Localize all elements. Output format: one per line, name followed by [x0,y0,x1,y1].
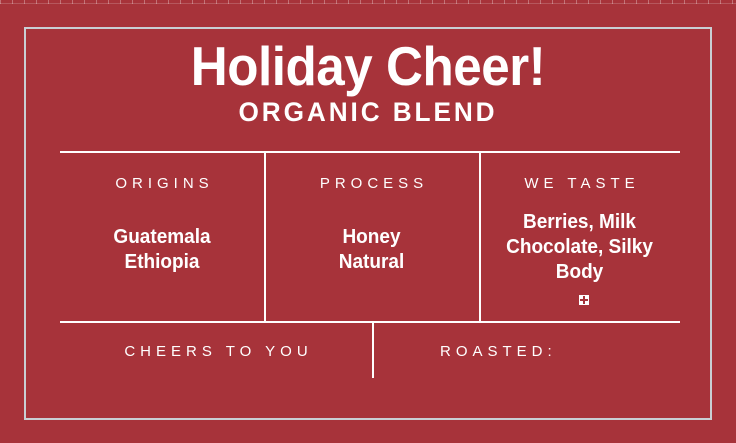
column-process-body: Honey Natural [269,225,473,275]
page-title: Holiday Cheer! [50,37,686,95]
column-we-taste: WE TASTE Berries, Milk Chocolate, Silky … [479,153,680,321]
info-columns: ORIGINS Guatemala Ethiopia PROCESS Honey… [60,153,680,321]
column-we-taste-heading: WE TASTE [479,175,680,192]
column-process-heading: PROCESS [264,175,479,192]
column-origins-body: Guatemala Ethiopia [65,225,259,275]
top-ruler [0,0,736,4]
coffee-label-card: Holiday Cheer! ORGANIC BLEND ORIGINS Gua… [24,27,712,420]
footer-cheers-text: CHEERS TO YOU [60,343,372,360]
label-footer: CHEERS TO YOU ROASTED: [60,323,680,383]
column-origins: ORIGINS Guatemala Ethiopia [60,153,264,321]
title-block: Holiday Cheer! ORGANIC BLEND [26,37,710,129]
column-we-taste-body: Berries, Milk Chocolate, Silky Body [484,210,675,285]
footer-roasted-label: ROASTED: [408,343,680,360]
top-ruler-line [0,3,736,4]
column-origins-heading: ORIGINS [60,175,264,192]
crosshair-cursor-icon [579,295,589,305]
page-subtitle: ORGANIC BLEND [36,95,699,129]
column-process: PROCESS Honey Natural [264,153,479,321]
